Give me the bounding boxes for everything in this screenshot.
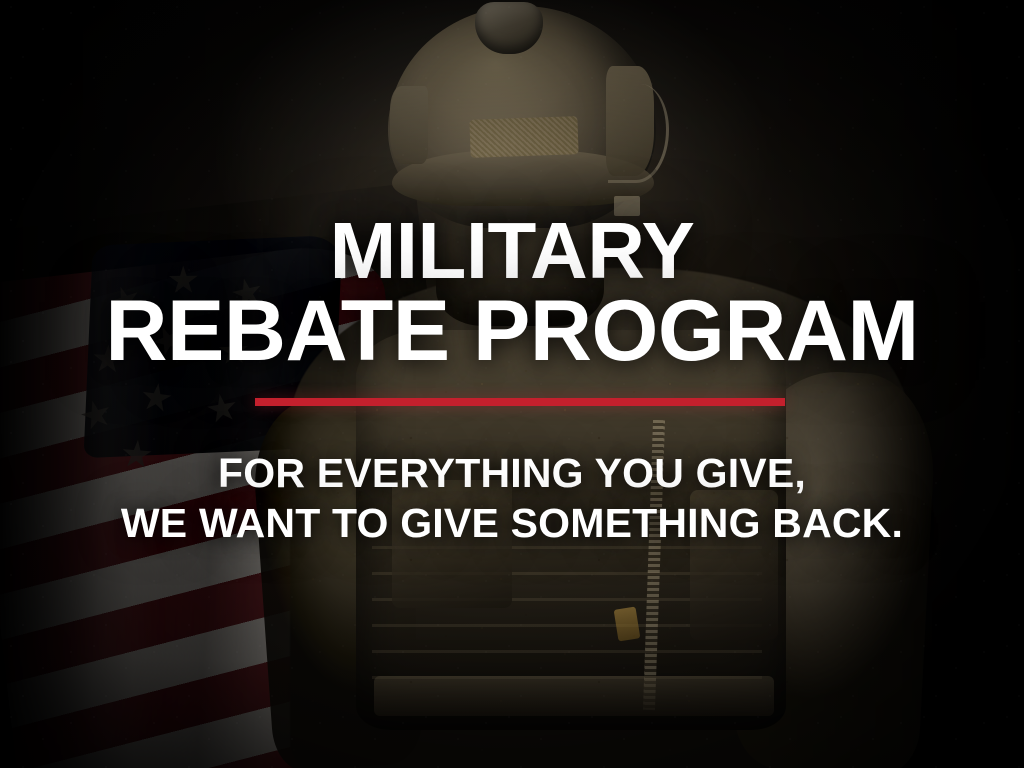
- military-rebate-banner: MILITARY REBATE PROGRAM FOR EVERYTHING Y…: [0, 0, 1024, 768]
- red-divider-rule: [255, 398, 785, 406]
- text-overlay: MILITARY REBATE PROGRAM FOR EVERYTHING Y…: [0, 0, 1024, 768]
- headline-line-2: REBATE PROGRAM: [0, 292, 1024, 371]
- subtitle-line-1: FOR EVERYTHING YOU GIVE,: [0, 448, 1024, 498]
- subtitle-line-2: WE WANT TO GIVE SOMETHING BACK.: [0, 498, 1024, 548]
- headline-line-1: MILITARY: [0, 214, 1024, 288]
